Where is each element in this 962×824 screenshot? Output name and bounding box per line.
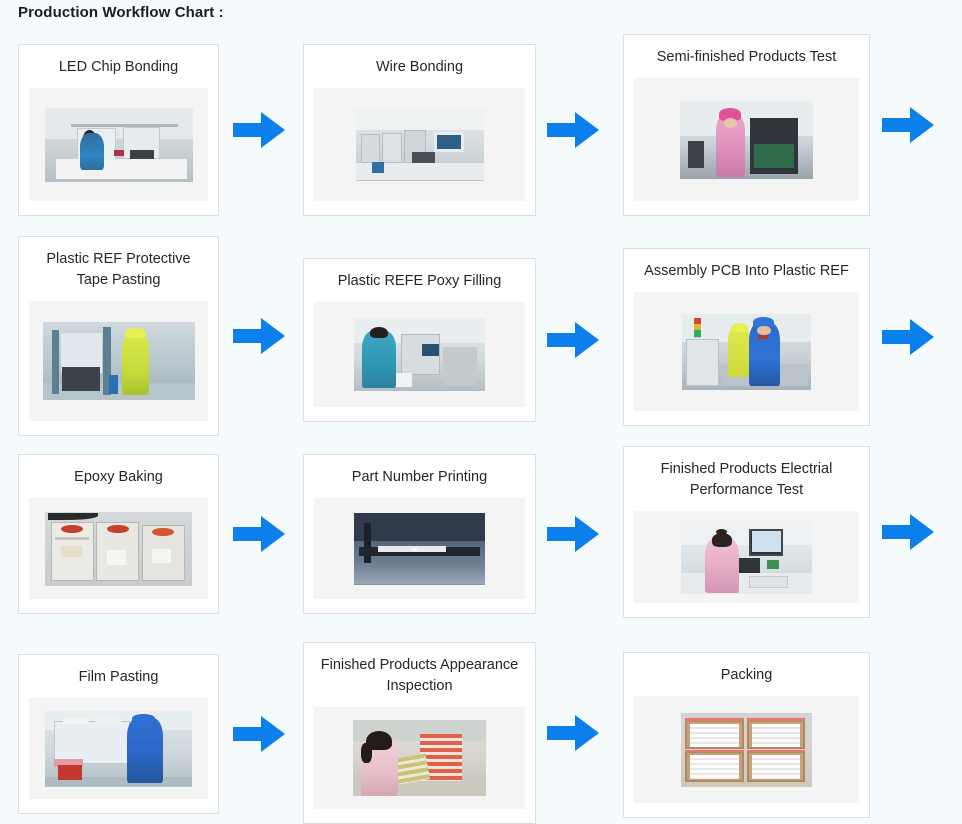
step-photo [45, 108, 193, 182]
step-photo [45, 512, 192, 586]
page-title: Production Workflow Chart : [18, 4, 224, 21]
photo-scene-part-number-printing [354, 513, 485, 585]
step-photo-band [314, 707, 525, 809]
step-photo-band [634, 78, 859, 201]
photo-scene-epoxy-filling [354, 318, 485, 391]
workflow-step-card[interactable]: Assembly PCB Into Plastic REF [623, 248, 870, 426]
step-photo [354, 513, 485, 585]
step-photo [682, 314, 811, 390]
workflow-step-card[interactable]: Plastic REF Protective Tape Pasting [18, 236, 219, 436]
arrow-right-icon [880, 511, 936, 553]
step-photo-band [634, 511, 859, 603]
arrow-right-icon [545, 513, 601, 555]
workflow-step-card[interactable]: Semi-finished Products Test [623, 34, 870, 216]
step-photo-band [29, 498, 208, 599]
workflow-step-card[interactable]: Finished Products Appearance Inspection [303, 642, 536, 824]
step-photo [43, 322, 195, 400]
workflow-row: Film PastingFinished Products Appearance… [0, 642, 962, 824]
step-photo [681, 520, 812, 594]
step-photo [681, 713, 812, 787]
arrow-right-icon [545, 712, 601, 754]
workflow-step-card[interactable]: Epoxy Baking [18, 454, 219, 614]
step-title: Epoxy Baking [29, 467, 208, 488]
photo-scene-appearance-inspection [353, 720, 486, 796]
step-title: Assembly PCB Into Plastic REF [634, 261, 859, 282]
step-photo-band [29, 698, 208, 799]
step-title: Finished Products Appearance Inspection [314, 655, 525, 697]
photo-scene-epoxy-baking [45, 512, 192, 586]
workflow-step-card[interactable]: Finished Products Electrial Performance … [623, 446, 870, 618]
photo-scene-assembly-pcb [682, 314, 811, 390]
step-title: LED Chip Bonding [29, 57, 208, 78]
step-photo-band [634, 292, 859, 411]
step-title: Finished Products Electrial Performance … [634, 459, 859, 501]
step-photo-band [29, 88, 208, 201]
workflow-row: LED Chip BondingWire BondingSemi-finishe… [0, 34, 962, 230]
arrow-right-icon [545, 109, 601, 151]
photo-scene-semi-finished-test [680, 101, 813, 179]
step-photo-band [314, 498, 525, 599]
photo-scene-finished-electrical-test [681, 520, 812, 594]
arrow-right-icon [231, 109, 287, 151]
step-title: Part Number Printing [314, 467, 525, 488]
workflow-row: Plastic REF Protective Tape PastingPlast… [0, 236, 962, 436]
step-title: Plastic REFE Poxy Filling [314, 271, 525, 292]
workflow-step-card[interactable]: Plastic REFE Poxy Filling [303, 258, 536, 422]
arrow-right-icon [231, 315, 287, 357]
arrow-right-icon [545, 319, 601, 361]
step-title: Packing [634, 665, 859, 686]
step-title: Film Pasting [29, 667, 208, 688]
step-photo [680, 101, 813, 179]
step-photo-band [29, 301, 208, 421]
step-title: Semi-finished Products Test [634, 47, 859, 68]
arrow-right-icon [231, 513, 287, 555]
workflow-row: Epoxy BakingPart Number PrintingFinished… [0, 446, 962, 636]
photo-scene-wire-bonding [356, 109, 484, 181]
workflow-step-card[interactable]: Packing [623, 652, 870, 818]
photo-scene-led-chip-bonding [45, 108, 193, 182]
arrow-right-icon [231, 713, 287, 755]
step-title: Plastic REF Protective Tape Pasting [29, 249, 208, 291]
workflow-step-card[interactable]: Part Number Printing [303, 454, 536, 614]
arrow-right-icon [880, 104, 936, 146]
step-photo-band [314, 302, 525, 407]
workflow-grid: LED Chip BondingWire BondingSemi-finishe… [0, 34, 962, 824]
step-photo [354, 318, 485, 391]
workflow-step-card[interactable]: Film Pasting [18, 654, 219, 814]
photo-scene-plastic-ref-tape-pasting [43, 322, 195, 400]
step-photo-band [634, 696, 859, 803]
step-photo-band [314, 88, 525, 201]
arrow-right-icon [880, 316, 936, 358]
step-photo [353, 720, 486, 796]
step-photo [356, 109, 484, 181]
step-photo [45, 711, 192, 787]
workflow-step-card[interactable]: LED Chip Bonding [18, 44, 219, 216]
photo-scene-film-pasting [45, 711, 192, 787]
step-title: Wire Bonding [314, 57, 525, 78]
photo-scene-packing [681, 713, 812, 787]
workflow-step-card[interactable]: Wire Bonding [303, 44, 536, 216]
